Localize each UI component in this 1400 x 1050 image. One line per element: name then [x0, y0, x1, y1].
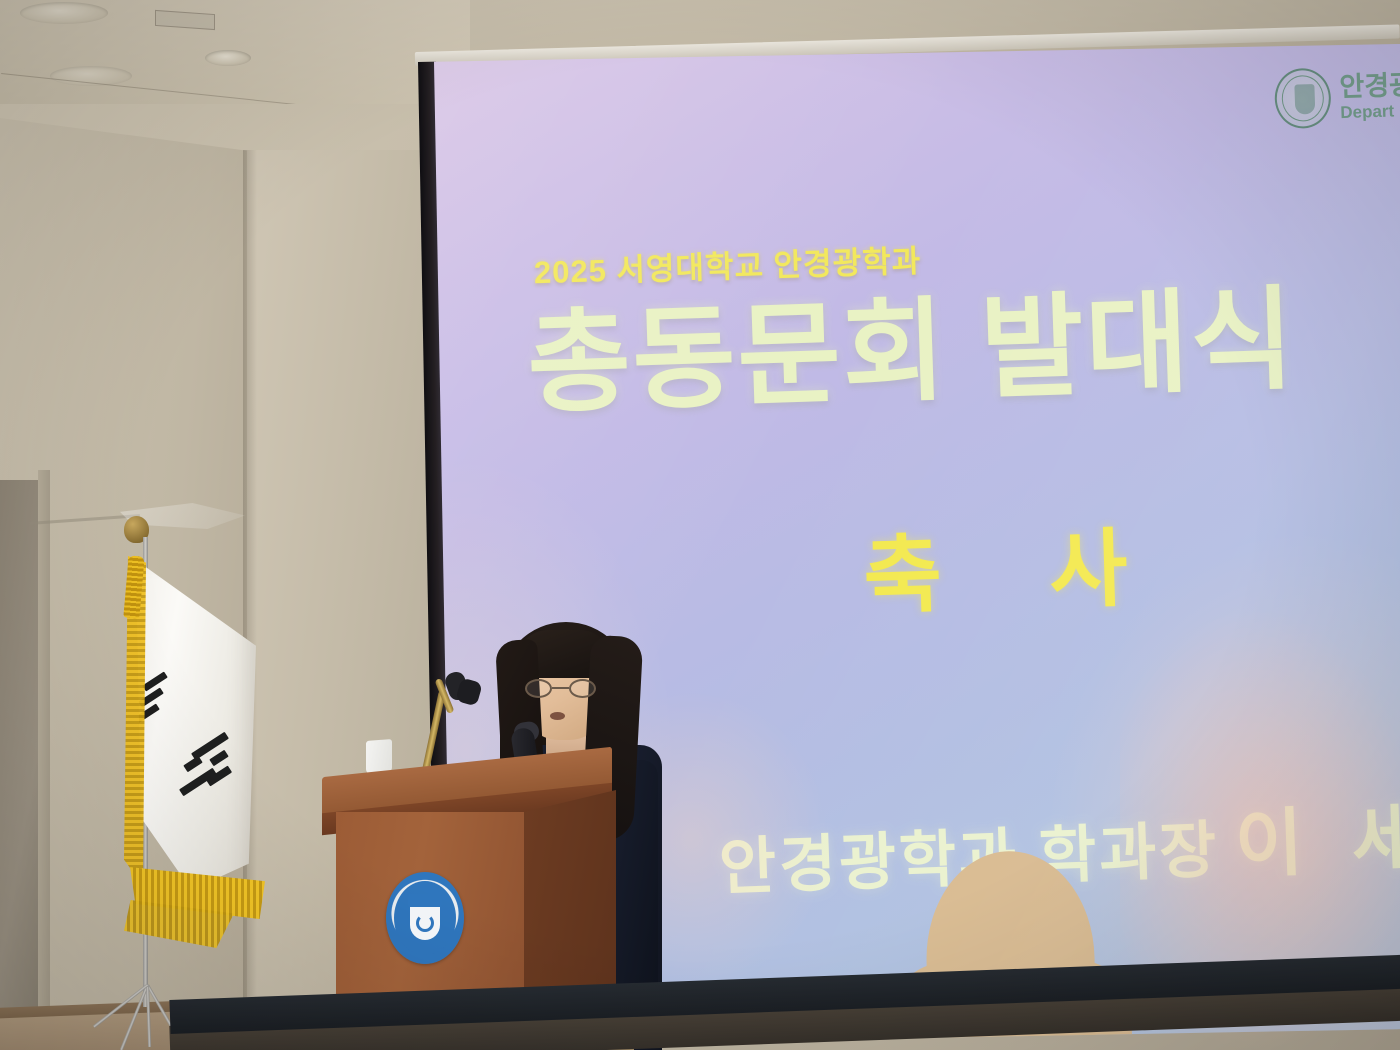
slide-footer-name: 이 세 은	[1234, 792, 1400, 886]
slide-middle-text: 축 사	[862, 498, 1172, 630]
slide-subtitle: 2025 서영대학교 안경광학과	[533, 235, 922, 292]
ceiling-light-icon	[205, 50, 251, 66]
slide-title: 총동문회 발대식	[526, 281, 1298, 423]
department-seal-icon	[1274, 67, 1332, 129]
presentation-photo-scene: 안경광 Depart 2025 서영대학교 안경광학과 총동문회 발대식 축 사…	[0, 0, 1400, 1050]
university-emblem-icon	[386, 872, 464, 964]
doorway-jamb	[38, 470, 50, 1045]
slide-logo-korean: 안경광	[1339, 70, 1400, 103]
slide-logo-english: Depart	[1340, 100, 1400, 121]
glasses-icon	[525, 679, 597, 699]
slide-logo: 안경광 Depart	[1274, 65, 1400, 129]
ceiling-light-icon	[20, 2, 108, 24]
speaker-mouth	[550, 712, 565, 720]
